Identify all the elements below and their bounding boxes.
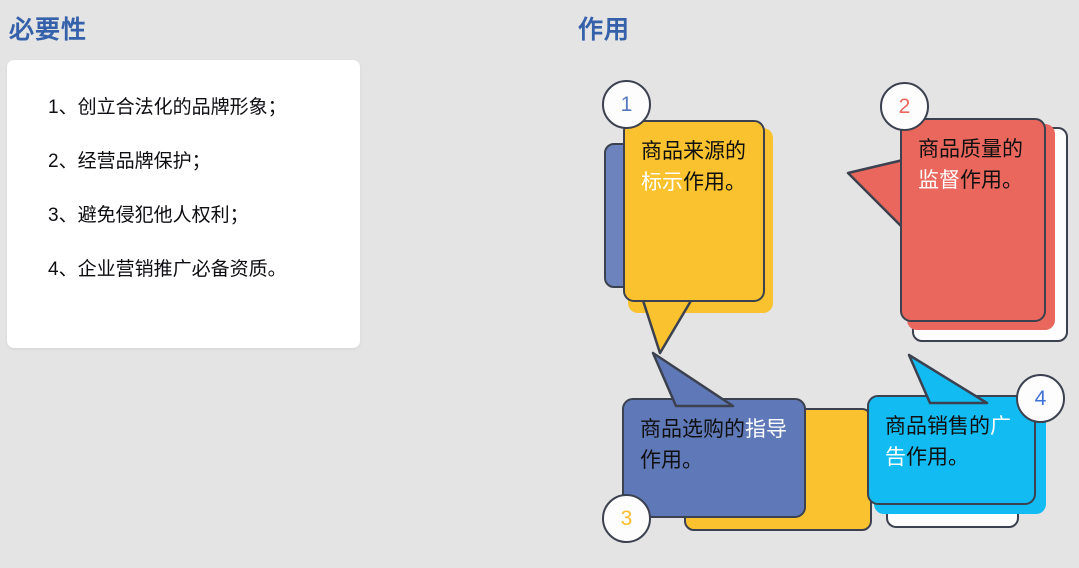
callout-2-text: 商品质量的监督作用。: [902, 120, 1044, 196]
callout-1-text-highlight: 标示: [641, 171, 683, 194]
callout-1-text-before: 商品来源的: [641, 140, 746, 163]
callout-3[interactable]: 商品选购的指导作用。 3: [600, 348, 850, 568]
list-item: 4、企业营销推广必备资质。: [48, 260, 348, 279]
page-title-necessity: 必要性: [9, 10, 87, 46]
callout-1[interactable]: 商品来源的标示作用。 1: [590, 78, 820, 343]
callout-2-text-after: 作用。: [960, 169, 1023, 192]
list-item-label: 避免侵犯他人权利；: [78, 205, 249, 226]
callout-4-badge-number: 4: [1035, 388, 1047, 409]
callout-1-text-after: 作用。: [683, 171, 746, 194]
list-item-number: 4、: [48, 259, 78, 280]
callout-3-badge: 3: [602, 494, 651, 543]
callout-1-text: 商品来源的标示作用。: [625, 122, 763, 198]
callout-1-badge-number: 1: [621, 94, 633, 115]
list-item: 1、创立合法化的品牌形象；: [48, 98, 348, 117]
list-item-number: 2、: [48, 151, 78, 172]
callout-4-badge: 4: [1016, 374, 1065, 423]
page-title-function: 作用: [578, 10, 630, 46]
necessity-list: 1、创立合法化的品牌形象； 2、经营品牌保护； 3、避免侵犯他人权利； 4、企业…: [48, 98, 348, 314]
callout-4[interactable]: 商品销售的广告作用。 4: [850, 355, 1079, 555]
list-item-number: 3、: [48, 205, 78, 226]
callout-2-text-before: 商品质量的: [918, 138, 1023, 161]
list-item-number: 1、: [48, 97, 78, 118]
list-item-label: 企业营销推广必备资质。: [78, 259, 287, 280]
callout-2-bubble: 商品质量的监督作用。: [900, 118, 1046, 322]
callout-1-bubble: 商品来源的标示作用。: [623, 120, 765, 302]
list-item: 2、经营品牌保护；: [48, 152, 348, 171]
callout-1-badge: 1: [602, 80, 651, 129]
list-item-label: 经营品牌保护；: [78, 151, 211, 172]
callout-2-text-highlight: 监督: [918, 169, 960, 192]
list-item-label: 创立合法化的品牌形象；: [78, 97, 287, 118]
callout-2-badge: 2: [880, 82, 929, 131]
list-item: 3、避免侵犯他人权利；: [48, 206, 348, 225]
callout-2-badge-number: 2: [899, 96, 911, 117]
callout-2[interactable]: 商品质量的监督作用。 2: [840, 80, 1079, 350]
callout-3-badge-number: 3: [621, 508, 633, 529]
